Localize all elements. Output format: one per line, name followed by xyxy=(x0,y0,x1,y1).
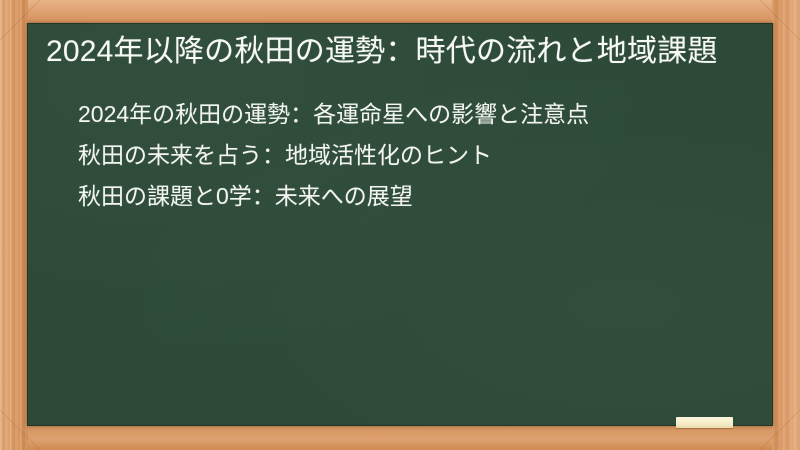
frame-top-rail xyxy=(0,0,800,24)
chalkboard-slide: 2024年以降の秋田の運勢：時代の流れと地域課題 2024年の秋田の運勢：各運命… xyxy=(0,0,800,450)
chalk-stick xyxy=(676,417,733,428)
list-item: 秋田の未来を占う：地域活性化のヒント xyxy=(78,135,755,176)
topic-list: 2024年の秋田の運勢：各運命星への影響と注意点 秋田の未来を占う：地域活性化の… xyxy=(45,94,755,217)
board-content: 2024年以降の秋田の運勢：時代の流れと地域課題 2024年の秋田の運勢：各運命… xyxy=(27,23,773,426)
chalkboard-surface: 2024年以降の秋田の運勢：時代の流れと地域課題 2024年の秋田の運勢：各運命… xyxy=(27,23,773,426)
frame-left-stile xyxy=(0,0,28,450)
list-item: 2024年の秋田の運勢：各運命星への影響と注意点 xyxy=(78,94,755,135)
frame-right-stile xyxy=(772,0,800,450)
list-item: 秋田の課題と0学：未来への展望 xyxy=(78,176,755,217)
slide-title: 2024年以降の秋田の運勢：時代の流れと地域課題 xyxy=(46,32,755,72)
